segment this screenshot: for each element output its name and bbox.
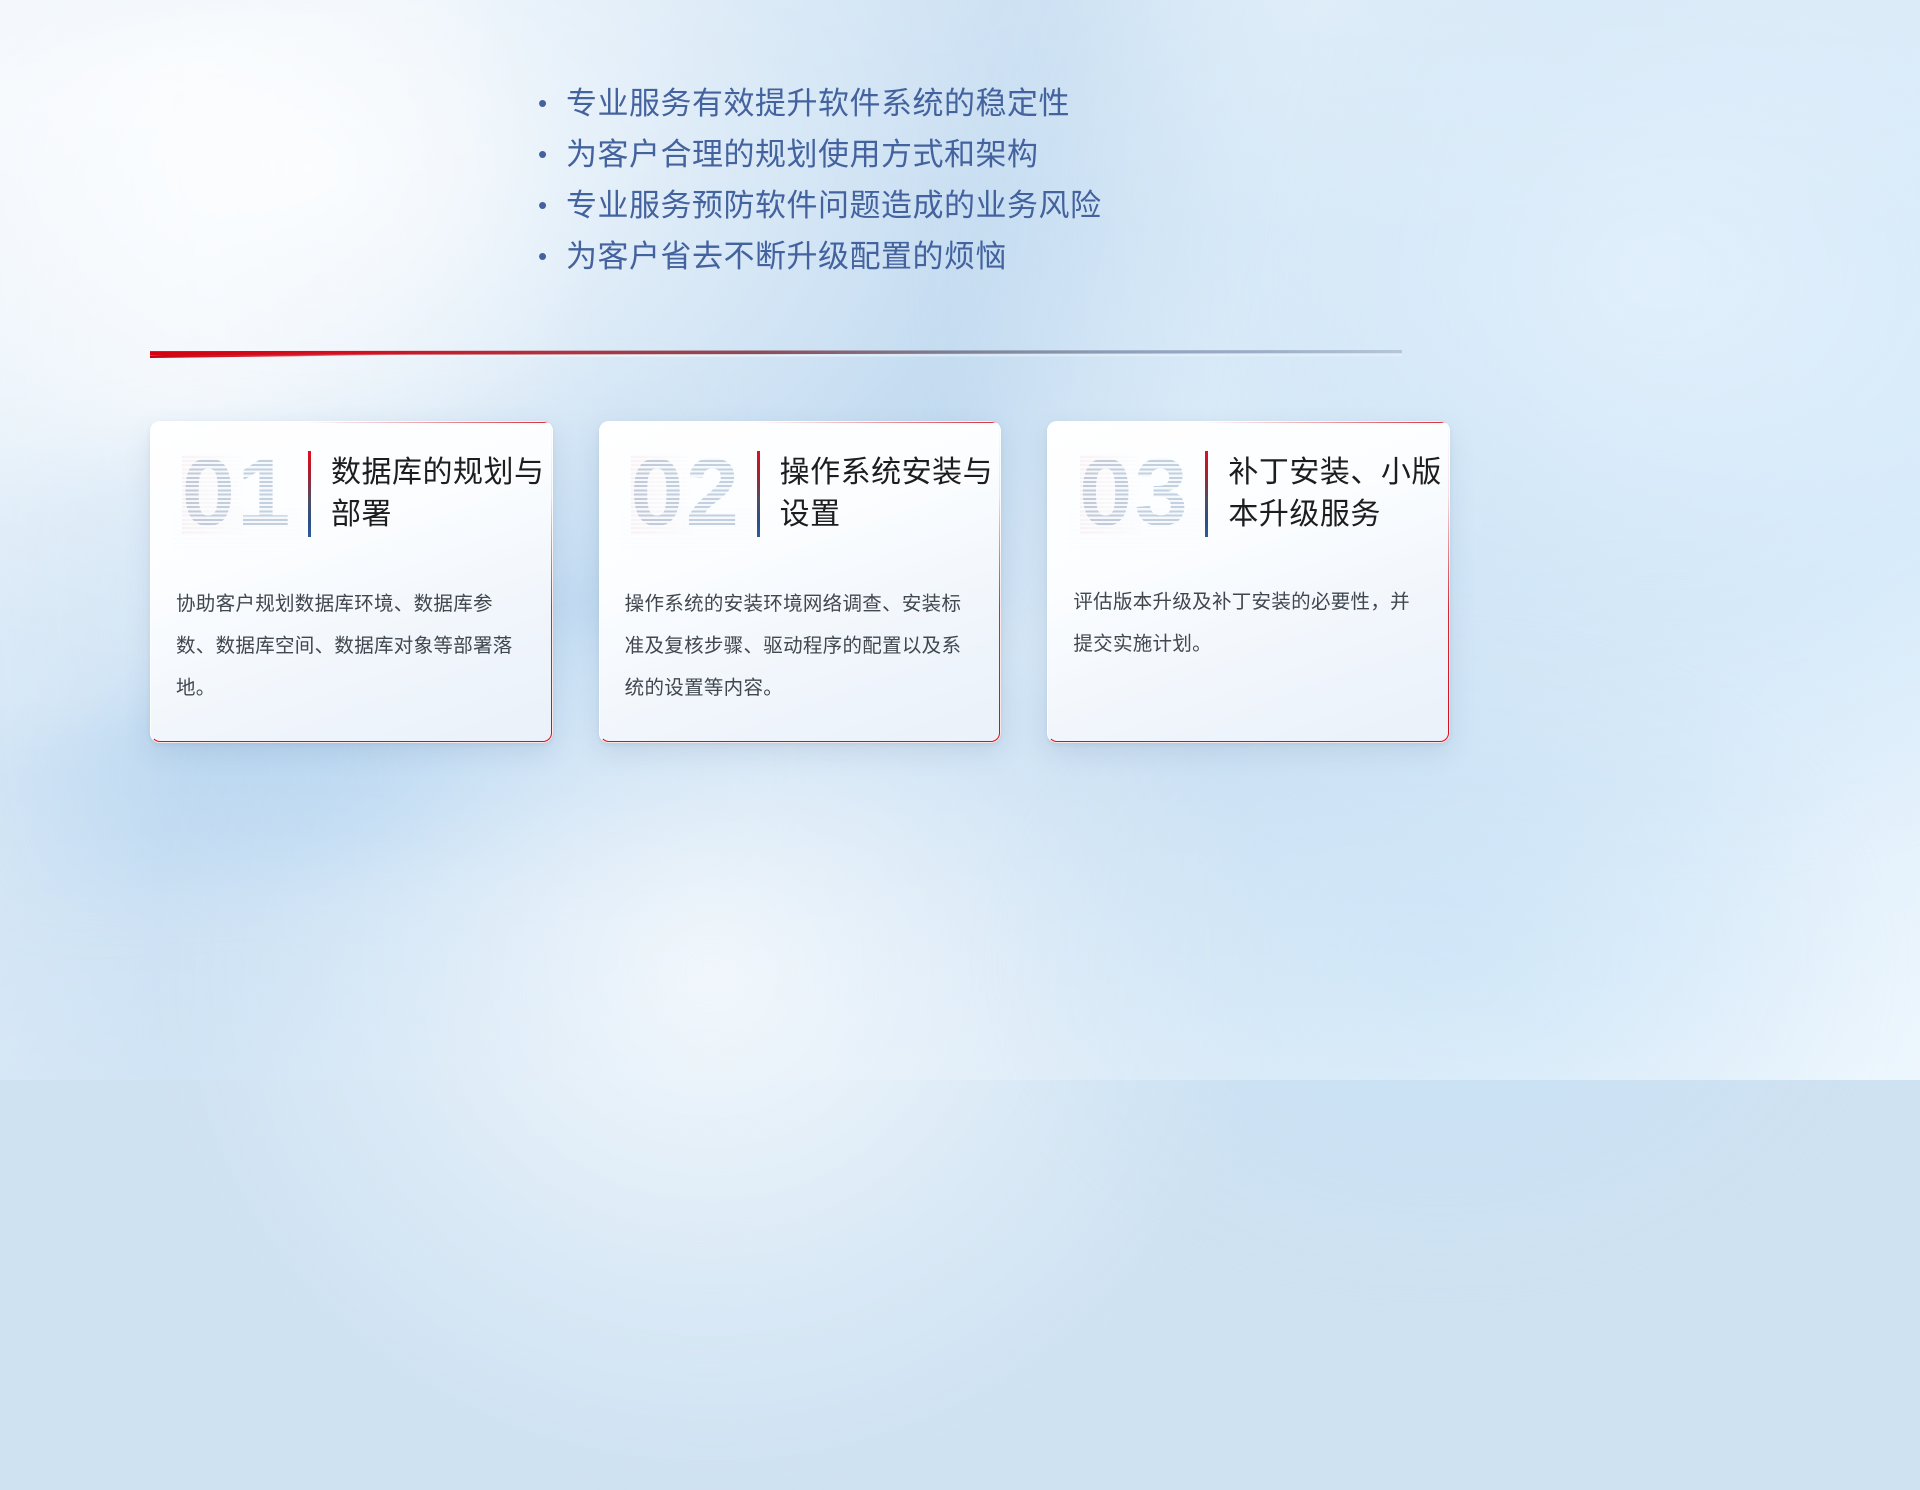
card-number-03: 03 xyxy=(1069,439,1199,549)
card-body-02: 操作系统的安装环境网络调查、安装标准及复核步骤、驱动程序的配置以及系统的设置等内… xyxy=(599,567,1002,709)
list-item: • 为客户合理的规划使用方式和架构 xyxy=(538,139,1338,190)
card-body-01: 协助客户规划数据库环境、数据库参数、数据库空间、数据库对象等部署落地。 xyxy=(150,567,553,709)
list-item: • 为客户省去不断升级配置的烦恼 xyxy=(538,241,1338,292)
card-header: 01 数据库的规划与部署 xyxy=(150,421,553,567)
service-card-02[interactable]: 02 操作系统安装与设置 操作系统的安装环境网络调查、安装标准及复核步骤、驱动程… xyxy=(599,421,1002,743)
card-header: 02 操作系统安装与设置 xyxy=(599,421,1002,567)
card-number-01: 01 xyxy=(172,439,302,549)
card-title-03: 补丁安装、小版本升级服务 xyxy=(1228,452,1442,536)
service-card-group: 01 数据库的规划与部署 协助客户规划数据库环境、数据库参数、数据库空间、数据库… xyxy=(150,421,1450,743)
list-item: • 专业服务有效提升软件系统的稳定性 xyxy=(538,88,1338,139)
bullet-dot-icon: • xyxy=(538,192,566,218)
bullet-dot-icon: • xyxy=(538,141,566,167)
bullet-text-3: 专业服务预防软件问题造成的业务风险 xyxy=(566,190,1102,221)
bullet-text-2: 为客户合理的规划使用方式和架构 xyxy=(566,139,1039,170)
slide-content: • 专业服务有效提升软件系统的稳定性 • 为客户合理的规划使用方式和架构 • 专… xyxy=(0,0,1920,1080)
service-card-03[interactable]: 03 补丁安装、小版本升级服务 评估版本升级及补丁安装的必要性，并提交实施计划。 xyxy=(1047,421,1450,743)
bullet-dot-icon: • xyxy=(538,90,566,116)
bullet-text-1: 专业服务有效提升软件系统的稳定性 xyxy=(566,88,1070,119)
card-title-01: 数据库的规划与部署 xyxy=(331,452,545,536)
card-divider-rule xyxy=(757,451,760,537)
service-card-01[interactable]: 01 数据库的规划与部署 协助客户规划数据库环境、数据库参数、数据库空间、数据库… xyxy=(150,421,553,743)
card-divider-rule xyxy=(1205,451,1208,537)
card-body-03: 评估版本升级及补丁安装的必要性，并提交实施计划。 xyxy=(1047,567,1450,665)
card-title-02: 操作系统安装与设置 xyxy=(780,452,994,536)
bullet-dot-icon: • xyxy=(538,243,566,269)
list-item: • 专业服务预防软件问题造成的业务风险 xyxy=(538,190,1338,241)
section-divider xyxy=(150,344,1402,366)
benefits-bullet-list: • 专业服务有效提升软件系统的稳定性 • 为客户合理的规划使用方式和架构 • 专… xyxy=(538,88,1338,292)
card-divider-rule xyxy=(308,451,311,537)
card-number-02: 02 xyxy=(621,439,751,549)
card-header: 03 补丁安装、小版本升级服务 xyxy=(1047,421,1450,567)
bullet-text-4: 为客户省去不断升级配置的烦恼 xyxy=(566,241,1007,272)
